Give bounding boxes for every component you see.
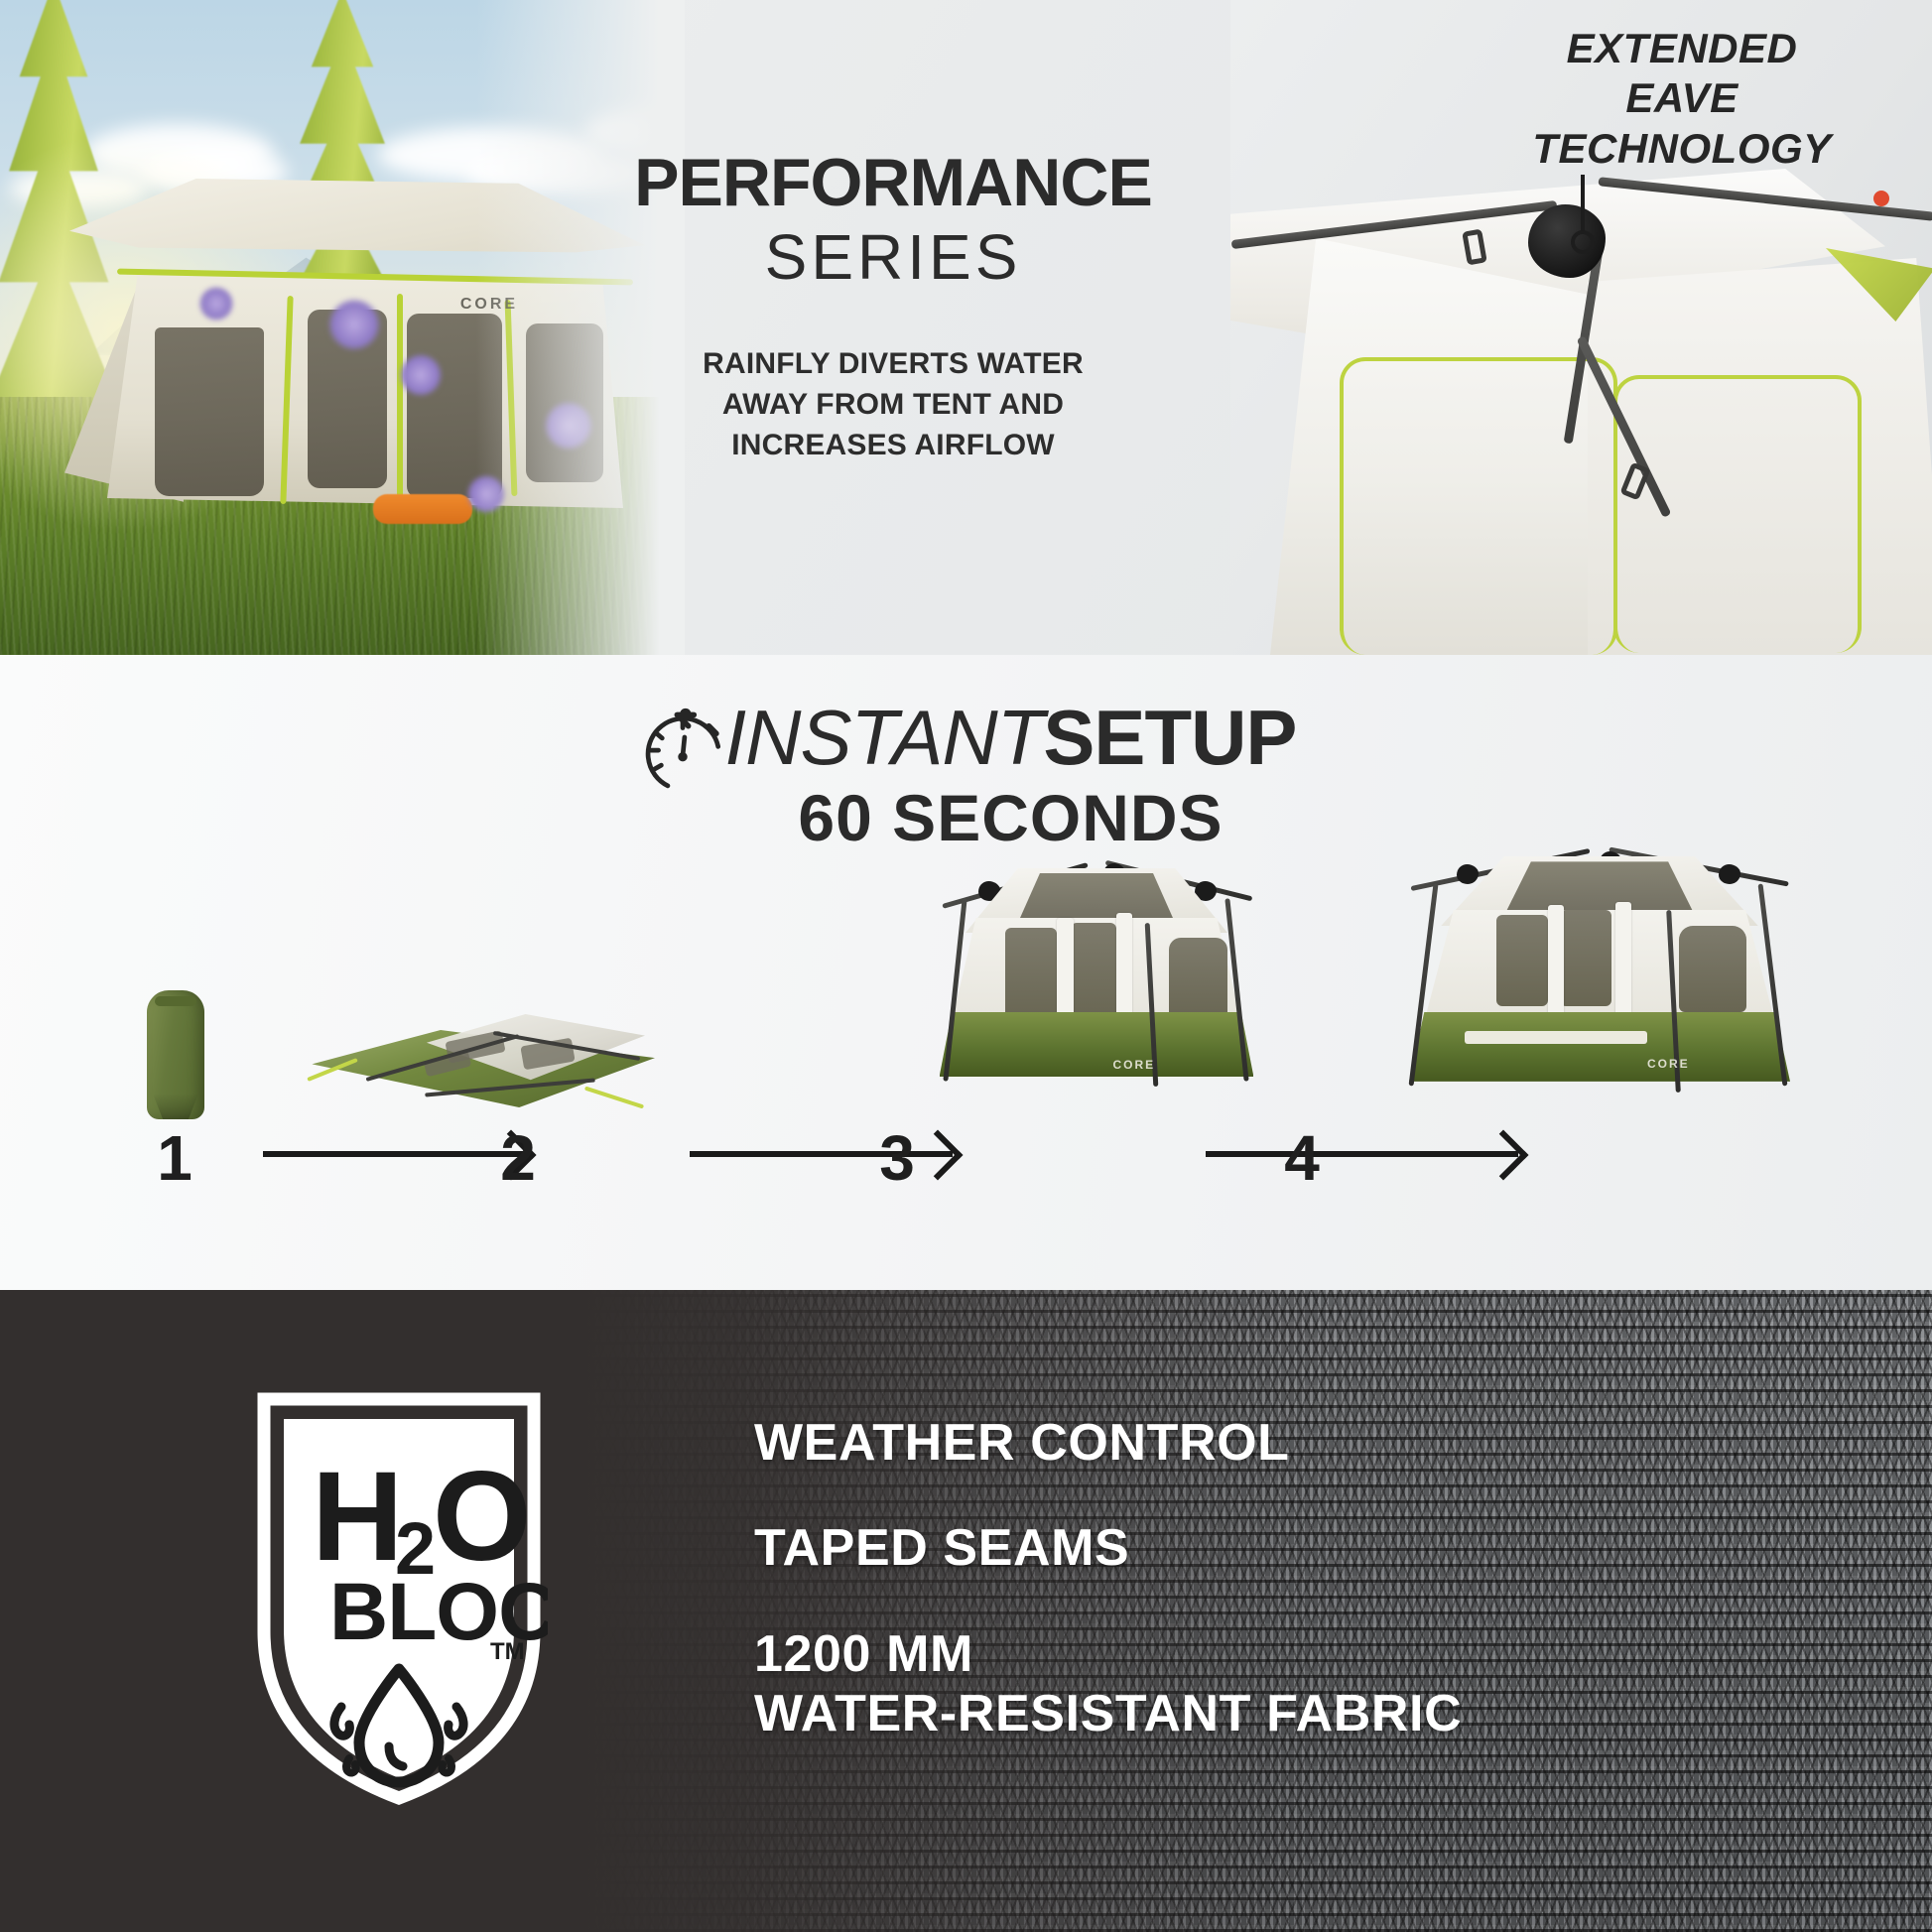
- tent-green-skirt: [940, 1012, 1254, 1077]
- hero-title-series: SERIES: [625, 220, 1161, 296]
- product-infographic: CORE PERFORMANCE SERIES RAINFLY DIVERTS …: [0, 0, 1932, 1932]
- feature-taped-seams: TAPED SEAMS: [754, 1518, 1846, 1578]
- feature-weather-control: WEATHER CONTROL: [754, 1413, 1846, 1473]
- step-number-2: 2: [473, 1121, 563, 1195]
- tent-mesh-window: [1071, 923, 1116, 1022]
- feature-line-1200mm: 1200 MM: [754, 1624, 1846, 1684]
- tent-roof-mesh: [1018, 873, 1175, 923]
- hero-subcopy-line-2: AWAY FROM TENT AND: [625, 384, 1161, 425]
- tent-shell: CORE: [933, 843, 1260, 1092]
- step-4-assembled-tent-image: CORE: [1401, 830, 1798, 1097]
- h2o-block-logo: H 2 O BLOCK TM: [250, 1389, 548, 1806]
- setup-word-instant: INSTANT: [725, 694, 1044, 781]
- setup-headline-line-1: INSTANTSETUP: [725, 701, 1297, 774]
- eave-label-line-3: TECHNOLOGY: [1449, 124, 1915, 174]
- core-logo-on-tent: CORE: [1647, 1057, 1690, 1071]
- callout-circle-icon: [1571, 230, 1595, 254]
- hero-section: CORE PERFORMANCE SERIES RAINFLY DIVERTS …: [0, 0, 1932, 655]
- wildflower: [327, 298, 381, 351]
- eave-label-line-1: EXTENDED: [1449, 24, 1915, 73]
- hero-title-performance: PERFORMANCE: [625, 149, 1161, 216]
- eave-label-line-2: EAVE: [1449, 73, 1915, 123]
- setup-steps-row: CORE: [0, 824, 1932, 1260]
- lime-corner-tab: [584, 1087, 644, 1109]
- hero-subcopy-line-3: INCREASES AIRFLOW: [625, 425, 1161, 465]
- corner-hub: [1457, 864, 1479, 884]
- wildflower: [198, 286, 234, 322]
- tent-mesh-window: [1560, 910, 1611, 1006]
- hero-subcopy: RAINFLY DIVERTS WATER AWAY FROM TENT AND…: [625, 343, 1161, 466]
- step-number-3: 3: [852, 1121, 942, 1195]
- step-1-carry-bag-image: [147, 990, 204, 1119]
- tent-lime-trim: [397, 294, 403, 506]
- callout-line: [1581, 175, 1585, 234]
- stopwatch-icon: [636, 705, 729, 800]
- tent-mesh-window: [1005, 928, 1058, 1022]
- step-number-1: 1: [130, 1121, 219, 1195]
- wildflower: [399, 353, 443, 397]
- setup-section: INSTANTSETUP 60 SECONDS: [0, 655, 1932, 1290]
- core-logo-on-tent: CORE: [1113, 1058, 1156, 1072]
- tent-shell: CORE: [1401, 830, 1798, 1097]
- step-arrow-3-to-4: [1206, 1151, 1518, 1157]
- tent-roof-mesh: [1504, 861, 1695, 915]
- tent-door-strap: [1465, 1031, 1647, 1045]
- step-2-flat-tent-image: [298, 1008, 655, 1119]
- feature-water-resistant-fabric: 1200 MM WATER-RESISTANT FABRIC: [754, 1624, 1846, 1744]
- tent-mesh-window: [1496, 915, 1548, 1006]
- hero-copy-block: PERFORMANCE SERIES RAINFLY DIVERTS WATER…: [625, 149, 1161, 466]
- hero-subcopy-line-1: RAINFLY DIVERTS WATER: [625, 343, 1161, 384]
- setup-word-setup: SETUP: [1043, 694, 1296, 781]
- tent-mesh-window: [1169, 938, 1227, 1022]
- eave-technology-label: EXTENDED EAVE TECHNOLOGY: [1449, 24, 1915, 174]
- logo-tm: TM: [490, 1638, 525, 1665]
- step-number-4: 4: [1257, 1121, 1347, 1195]
- step-3-raised-tent-image: CORE: [933, 843, 1260, 1092]
- pole-end-cap: [1873, 191, 1889, 206]
- tent-green-skirt: [1409, 1012, 1790, 1082]
- feature-line-fabric: WATER-RESISTANT FABRIC: [754, 1684, 1846, 1743]
- sleeping-bag: [373, 494, 472, 524]
- weather-feature-list: WEATHER CONTROL TAPED SEAMS 1200 MM WATE…: [754, 1413, 1846, 1743]
- tent-mesh-window: [155, 327, 264, 496]
- tent-lime-trim: [1613, 375, 1862, 653]
- corner-hub: [1719, 864, 1740, 884]
- tent-mesh-window: [1679, 926, 1746, 1011]
- hero-lifestyle-photo: CORE: [0, 0, 685, 655]
